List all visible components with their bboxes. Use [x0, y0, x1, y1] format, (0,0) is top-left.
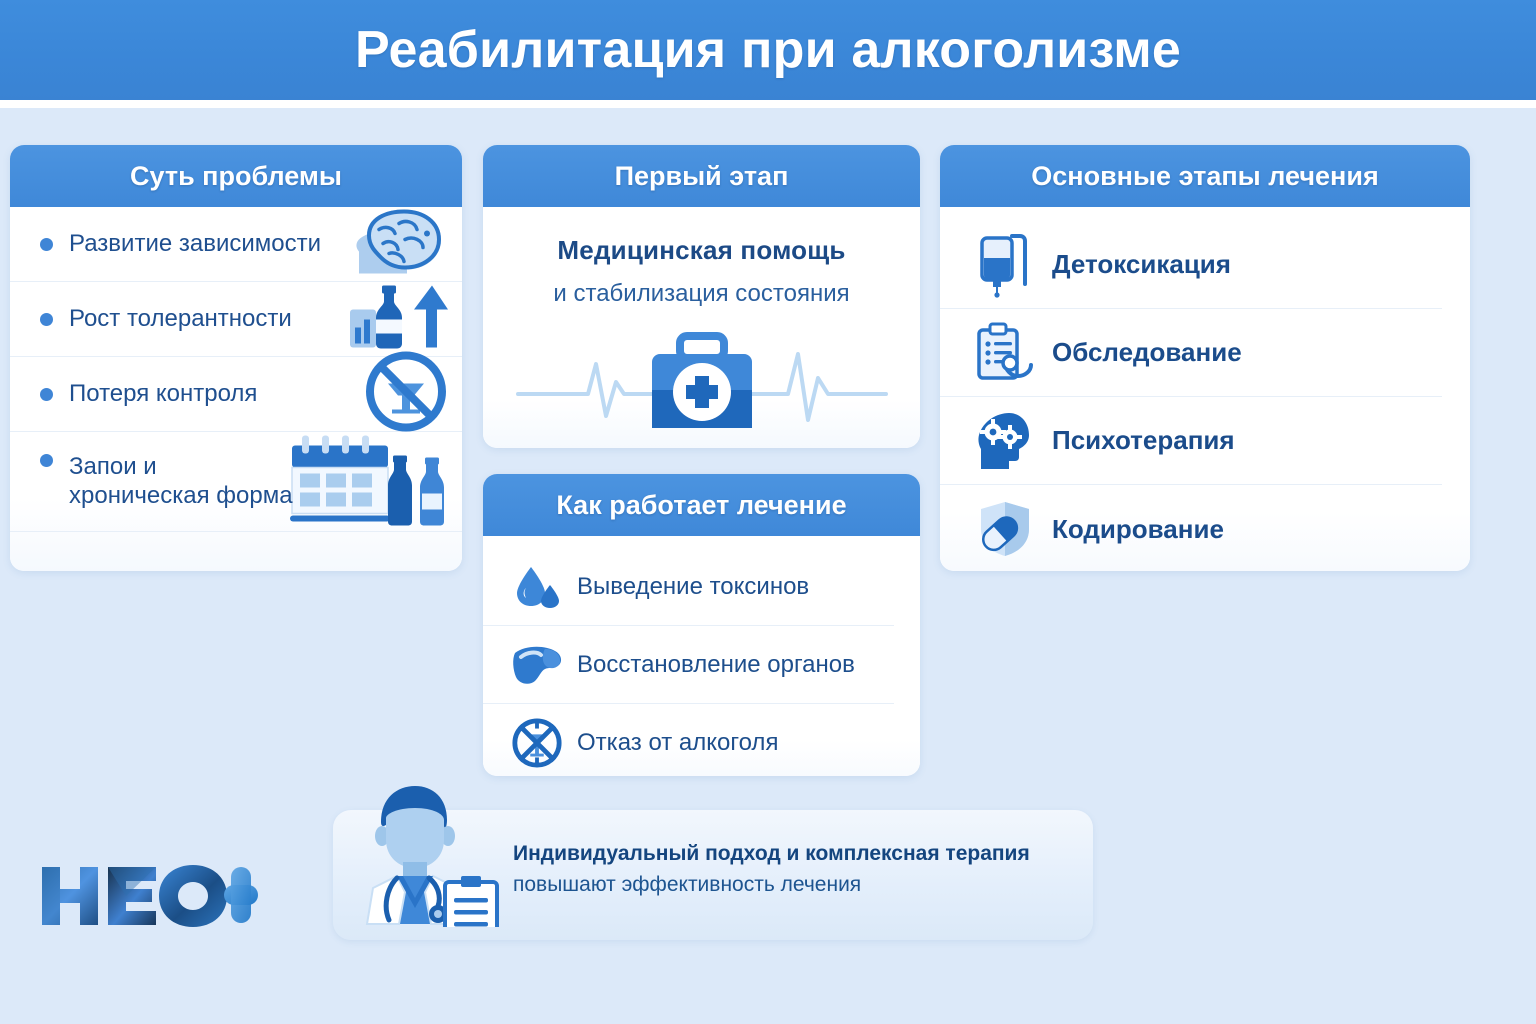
- card-main-stages-title: Основные этапы лечения: [1031, 161, 1378, 192]
- list-item[interactable]: Запои и хроническая форма: [10, 432, 462, 532]
- card-how-treatment-works: Как работает лечение Выведение токсинов: [483, 474, 920, 776]
- card-main-stages: Основные этапы лечения Детоксикация: [940, 145, 1470, 571]
- how-item-label: Отказ от алкоголя: [577, 729, 778, 757]
- stage-item-label: Психотерапия: [1052, 425, 1235, 456]
- no-alcohol-glass-icon: [364, 350, 448, 439]
- doctor-clipboard-icon: [353, 782, 503, 932]
- card-main-stages-header: Основные этапы лечения: [940, 145, 1470, 207]
- list-item[interactable]: Кодирование: [940, 485, 1442, 571]
- water-drop-icon: [511, 563, 563, 611]
- list-item[interactable]: Обследование: [940, 309, 1442, 397]
- how-item-label: Выведение токсинов: [577, 573, 809, 601]
- no-alcohol-circle-icon: [511, 716, 563, 770]
- list-item[interactable]: Детоксикация: [940, 221, 1442, 309]
- footer-text: Индивидуальный подход и комплексная тера…: [513, 842, 1030, 897]
- bullet-dot-icon: [40, 454, 53, 467]
- stage-item-label: Детоксикация: [1052, 249, 1231, 280]
- brain-head-icon: [353, 208, 448, 281]
- bullet-dot-icon: [40, 388, 53, 401]
- problem-item-label-line2: хроническая форма: [69, 482, 293, 509]
- card-main-stages-body: Детоксикация Обследование: [940, 221, 1470, 571]
- calendar-bottles-icon: [284, 429, 454, 534]
- card-first-stage-header: Первый этап: [483, 145, 920, 207]
- stage-item-label: Кодирование: [1052, 514, 1224, 545]
- bottle-chart-up-arrow-icon: [348, 282, 448, 357]
- card-problem-essence: Суть проблемы Развитие зависимости: [10, 145, 462, 571]
- card-problem-header: Суть проблемы: [10, 145, 462, 207]
- footer-line2: повышают эффективность лечения: [513, 873, 1030, 897]
- stage-item-label: Обследование: [1052, 337, 1242, 368]
- list-item[interactable]: Восстановление органов: [483, 626, 894, 704]
- iv-drip-bag-icon: [974, 232, 1034, 298]
- card-how-title: Как работает лечение: [556, 490, 846, 521]
- problem-list: Развитие зависимости Рос: [10, 207, 462, 532]
- first-stage-line1: Медицинская помощь: [483, 235, 920, 266]
- bullet-dot-icon: [40, 313, 53, 326]
- first-stage-line2: и стабилизация состояния: [483, 280, 920, 308]
- clipboard-stethoscope-icon: [974, 322, 1034, 384]
- card-problem-body: Развитие зависимости Рос: [10, 207, 462, 571]
- list-item[interactable]: Отказ от алкоголя: [483, 704, 894, 776]
- card-problem-title: Суть проблемы: [130, 161, 342, 192]
- page-title: Реабилитация при алкоголизме: [355, 20, 1181, 80]
- brand-logo[interactable]: [38, 855, 258, 940]
- list-item[interactable]: Развитие зависимости: [10, 207, 462, 282]
- head-gears-icon: [974, 411, 1034, 471]
- header-divider: [0, 100, 1536, 108]
- bullet-dot-icon: [40, 238, 53, 251]
- problem-item-label: Рост толерантности: [69, 305, 292, 333]
- problem-item-label: Запои и хроническая форма: [69, 453, 293, 510]
- list-item[interactable]: Потеря контроля: [10, 357, 462, 432]
- first-aid-kit-ecg-icon: [483, 320, 920, 440]
- problem-item-label: Развитие зависимости: [69, 230, 321, 258]
- footer-line1: Индивидуальный подход и комплексная тера…: [513, 842, 1030, 866]
- list-item[interactable]: Рост толерантности: [10, 282, 462, 357]
- card-how-body: Выведение токсинов Восстановление органо…: [483, 548, 920, 776]
- problem-item-label: Потеря контроля: [69, 380, 257, 408]
- how-item-label: Восстановление органов: [577, 651, 855, 679]
- footer-banner: Индивидуальный подход и комплексная тера…: [333, 810, 1093, 940]
- card-first-stage: Первый этап Медицинская помощь и стабили…: [483, 145, 920, 448]
- liver-icon: [511, 643, 563, 687]
- card-first-stage-body: Медицинская помощь и стабилизация состоя…: [483, 207, 920, 448]
- list-item[interactable]: Психотерапия: [940, 397, 1442, 485]
- page-header: Реабилитация при алкоголизме: [0, 0, 1536, 100]
- pill-shield-icon: [974, 500, 1034, 558]
- card-first-stage-title: Первый этап: [615, 161, 789, 192]
- card-how-header: Как работает лечение: [483, 474, 920, 536]
- problem-item-label-line1: Запои и: [69, 453, 157, 480]
- first-stage-text: Медицинская помощь и стабилизация состоя…: [483, 207, 920, 308]
- list-item[interactable]: Выведение токсинов: [483, 548, 894, 626]
